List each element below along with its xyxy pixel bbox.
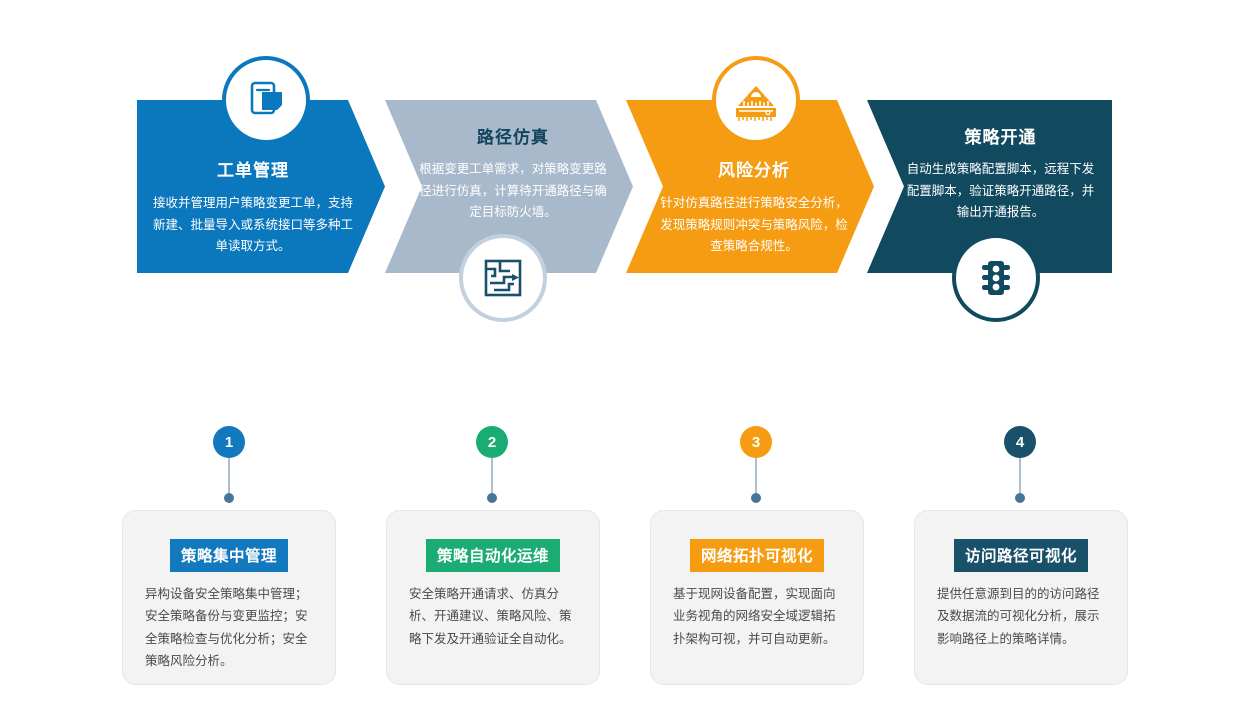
ruler-triangle-icon	[732, 78, 780, 122]
feature-cards-section: 1 2 3 4 策略集中管理 异构设备安全策略集中管理；安全策略备份与变更监控；…	[0, 0, 1250, 720]
feature-card-2-title: 策略自动化运维	[426, 539, 560, 572]
step-3-icon-circle	[712, 56, 800, 144]
feature-card-3[interactable]: 网络拓扑可视化 基于现网设备配置，实现面向业务视角的网络安全域逻辑拓扑架构可视，…	[650, 510, 864, 685]
feature-card-2[interactable]: 策略自动化运维 安全策略开通请求、仿真分析、开通建议、策略风险、策略下发及开通验…	[386, 510, 600, 685]
feature-badge-2: 2	[476, 426, 508, 458]
feature-stem-dot-4	[1015, 493, 1025, 503]
step-4-icon-circle	[952, 234, 1040, 322]
feature-card-1-title: 策略集中管理	[170, 539, 288, 572]
feature-badge-1: 1	[213, 426, 245, 458]
traffic-light-icon	[976, 256, 1016, 300]
feature-badge-1-number: 1	[225, 434, 233, 451]
feature-badge-2-number: 2	[488, 434, 496, 451]
feature-card-2-description: 安全策略开通请求、仿真分析、开通建议、策略风险、策略下发及开通验证全自动化。	[409, 583, 583, 650]
feature-card-4-description: 提供任意源到目的的访问路径及数据流的可视化分析，展示影响路径上的策略详情。	[937, 583, 1111, 650]
feature-card-1[interactable]: 策略集中管理 异构设备安全策略集中管理；安全策略备份与变更监控；安全策略检查与优…	[122, 510, 336, 685]
feature-badge-4-number: 4	[1016, 434, 1024, 451]
feature-card-3-title: 网络拓扑可视化	[690, 539, 824, 572]
maze-path-icon	[482, 257, 524, 299]
feature-stem-dot-2	[487, 493, 497, 503]
feature-badge-3: 3	[740, 426, 772, 458]
feature-badge-4: 4	[1004, 426, 1036, 458]
feature-card-1-description: 异构设备安全策略集中管理；安全策略备份与变更监控；安全策略检查与优化分析；安全策…	[145, 583, 319, 672]
feature-card-3-description: 基于现网设备配置，实现面向业务视角的网络安全域逻辑拓扑架构可视，并可自动更新。	[673, 583, 847, 650]
documents-icon	[244, 78, 288, 122]
step-2-icon-circle	[459, 234, 547, 322]
feature-stem-dot-3	[751, 493, 761, 503]
feature-stem-dot-1	[224, 493, 234, 503]
feature-card-4-title: 访问路径可视化	[954, 539, 1088, 572]
feature-card-4[interactable]: 访问路径可视化 提供任意源到目的的访问路径及数据流的可视化分析，展示影响路径上的…	[914, 510, 1128, 685]
step-1-icon-circle	[222, 56, 310, 144]
feature-badge-3-number: 3	[752, 434, 760, 451]
